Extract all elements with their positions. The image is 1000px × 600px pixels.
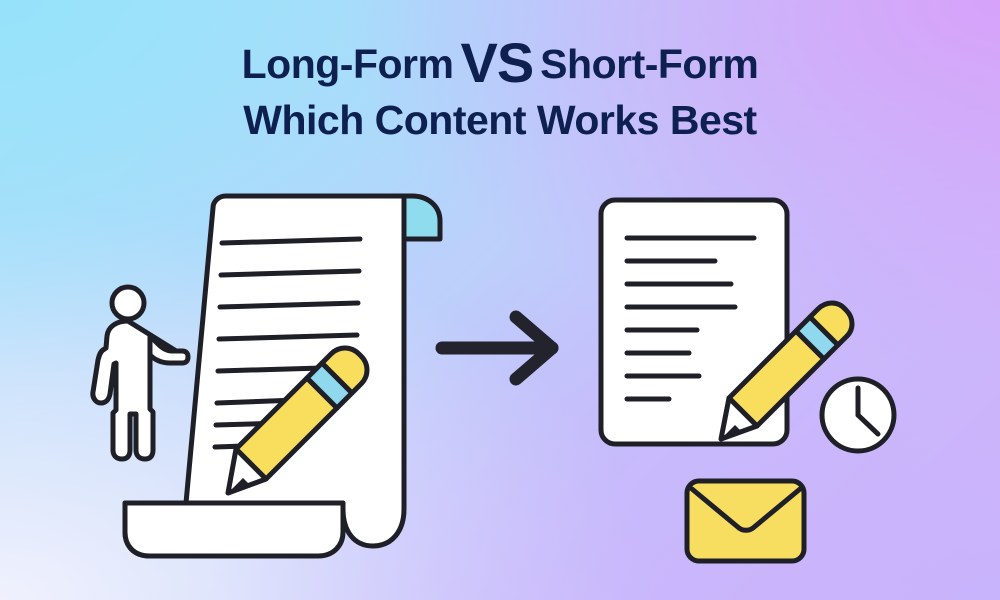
title-short-form: Short-Form — [540, 41, 758, 87]
short-document-text-lines — [627, 238, 754, 399]
pencil-icon — [228, 348, 367, 493]
title-line-two: Which Content Works Best — [0, 99, 1000, 142]
envelope-icon — [687, 481, 804, 561]
short-document — [601, 200, 787, 444]
title-vs: VS — [453, 31, 540, 94]
pencil-icon — [721, 303, 852, 439]
title-long-form: Long-Form — [242, 41, 454, 87]
stick-figure-person — [93, 287, 188, 459]
poster-canvas: Long-FormVSShort-Form Which Content Work… — [0, 0, 1000, 600]
scroll-text-lines — [215, 239, 360, 447]
clock-icon — [822, 379, 894, 451]
long-scroll-document — [125, 196, 440, 556]
title-line-one: Long-FormVSShort-Form — [0, 30, 1000, 88]
page-title: Long-FormVSShort-Form Which Content Work… — [0, 30, 1000, 142]
right-arrow — [442, 317, 552, 379]
